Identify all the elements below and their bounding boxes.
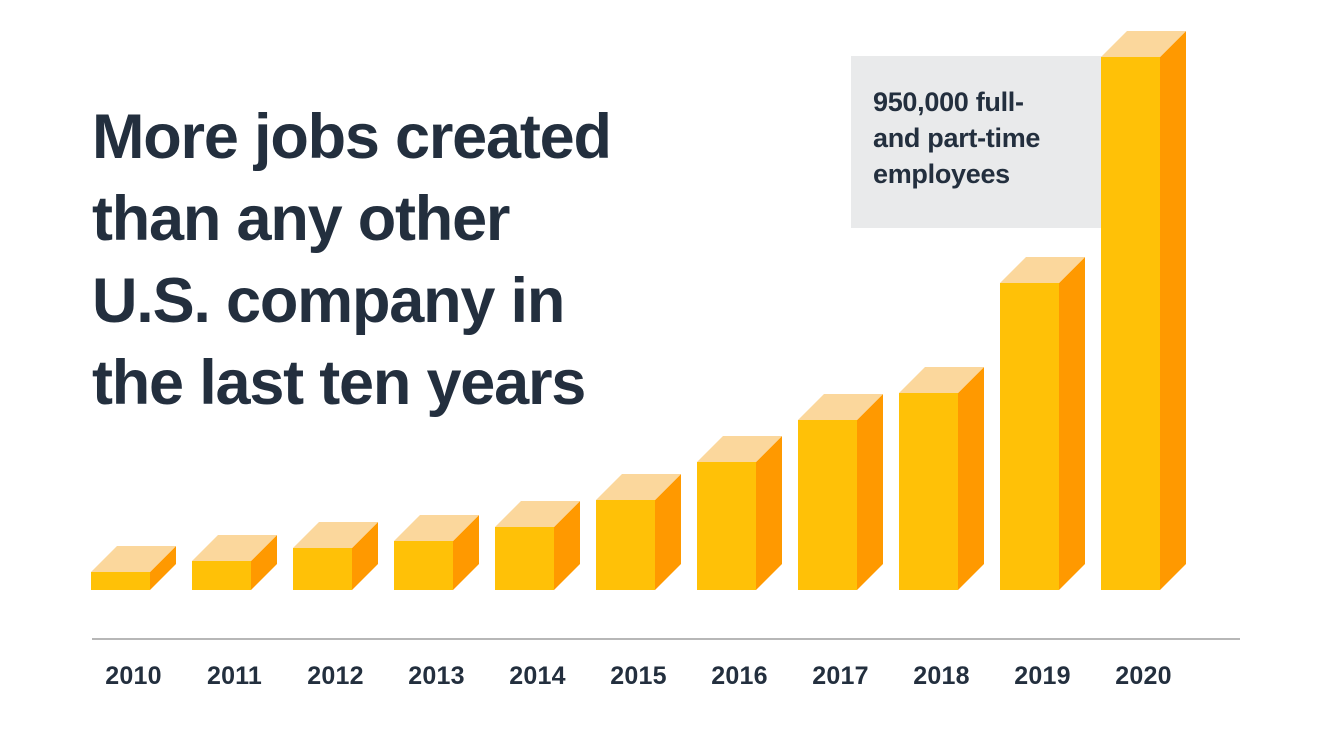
bar-2015 xyxy=(596,474,681,590)
bar-2014 xyxy=(495,501,580,590)
x-axis-label-2015: 2015 xyxy=(588,662,689,691)
bars-group xyxy=(0,0,1318,743)
bar-front-face xyxy=(1000,283,1059,590)
bar-front-face xyxy=(495,527,554,590)
bar-side-face xyxy=(958,367,984,590)
x-axis-label-2017: 2017 xyxy=(790,662,891,691)
x-axis-label-2020: 2020 xyxy=(1093,662,1194,691)
x-axis-label-2019: 2019 xyxy=(992,662,1093,691)
x-axis-line xyxy=(92,638,1240,640)
bar-front-face xyxy=(798,420,857,590)
bar-front-face xyxy=(697,462,756,590)
x-axis-label-2011: 2011 xyxy=(184,662,285,691)
x-axis-label-2018: 2018 xyxy=(891,662,992,691)
bar-2016 xyxy=(697,436,782,590)
x-axis-label-2013: 2013 xyxy=(386,662,487,691)
x-axis-label-2010: 2010 xyxy=(83,662,184,691)
bar-front-face xyxy=(899,393,958,590)
bar-front-face xyxy=(596,500,655,590)
bar-2012 xyxy=(293,522,378,590)
bar-2019 xyxy=(1000,257,1085,590)
bar-2013 xyxy=(394,515,479,590)
bar-side-face xyxy=(857,394,883,590)
bar-2018 xyxy=(899,367,984,590)
x-axis-label-2012: 2012 xyxy=(285,662,386,691)
bar-2011 xyxy=(192,535,277,590)
x-axis-label-2016: 2016 xyxy=(689,662,790,691)
x-axis-label-2014: 2014 xyxy=(487,662,588,691)
bar-2020 xyxy=(1101,31,1186,590)
bar-front-face xyxy=(394,541,453,590)
bar-side-face xyxy=(1059,257,1085,590)
bar-2017 xyxy=(798,394,883,590)
infographic-canvas: More jobs created than any other U.S. co… xyxy=(0,0,1318,743)
bar-2010 xyxy=(91,546,176,590)
bar-side-face xyxy=(756,436,782,590)
bar-front-face xyxy=(1101,57,1160,590)
bar-chart: 2010201120122013201420152016201720182019… xyxy=(0,0,1318,743)
bar-front-face xyxy=(91,572,150,590)
bar-front-face xyxy=(293,548,352,590)
bar-front-face xyxy=(192,561,251,590)
bar-side-face xyxy=(1160,31,1186,590)
